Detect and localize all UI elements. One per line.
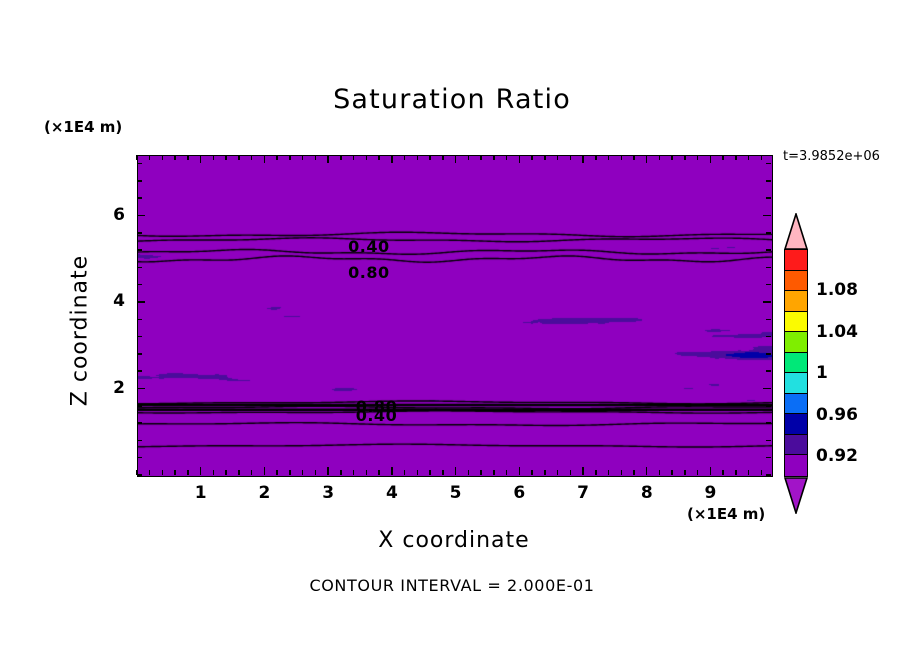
colorbar-tick-label: 1.04 [816, 322, 858, 342]
x-axis-minor-tick [187, 155, 189, 160]
x-axis-minor-tick [289, 470, 291, 475]
x-axis-minor-tick [353, 155, 355, 160]
x-axis-minor-tick [174, 470, 176, 475]
y-axis-minor-tick [766, 284, 771, 286]
y-axis-minor-tick [766, 267, 771, 269]
x-axis-minor-tick [149, 470, 151, 475]
y-axis-minor-tick [137, 163, 142, 165]
x-axis-minor-tick [506, 155, 508, 160]
x-axis-minor-tick [621, 155, 623, 160]
x-axis-minor-tick [684, 470, 686, 475]
x-axis-minor-tick [531, 470, 533, 475]
x-axis-minor-tick [302, 155, 304, 160]
y-axis-major-tick [763, 301, 771, 303]
y-axis-major-tick [137, 301, 145, 303]
x-axis-minor-tick [671, 470, 673, 475]
x-axis-minor-tick [213, 470, 215, 475]
x-axis-major-tick [391, 155, 393, 163]
x-axis-minor-tick [480, 470, 482, 475]
x-axis-minor-tick [735, 155, 737, 160]
y-axis-minor-tick [137, 232, 142, 234]
x-axis-minor-tick [761, 155, 763, 160]
x-axis-major-tick [519, 467, 521, 475]
y-axis-minor-tick [766, 249, 771, 251]
x-axis-major-tick [327, 467, 329, 475]
y-axis-minor-tick [137, 440, 142, 442]
x-axis-minor-tick [659, 470, 661, 475]
x-axis-minor-tick [315, 470, 317, 475]
x-axis-minor-tick [544, 155, 546, 160]
x-axis-major-tick [582, 155, 584, 163]
y-axis-minor-tick [137, 319, 142, 321]
y-axis-minor-tick [137, 370, 142, 372]
x-axis-minor-tick [468, 470, 470, 475]
x-axis-major-tick [646, 155, 648, 163]
x-axis-minor-tick [404, 470, 406, 475]
x-axis-tick-label: 3 [308, 483, 348, 503]
x-axis-minor-tick [761, 470, 763, 475]
x-axis-major-tick [264, 467, 266, 475]
x-axis-tick-label: 5 [436, 483, 476, 503]
y-axis-tick-label: 6 [85, 205, 125, 225]
x-axis-minor-tick [608, 470, 610, 475]
x-axis-minor-tick [595, 155, 597, 160]
x-axis-minor-tick [162, 470, 164, 475]
y-axis-major-tick [137, 388, 145, 390]
x-axis-minor-tick [429, 470, 431, 475]
x-axis-minor-tick [187, 470, 189, 475]
y-axis-minor-tick [137, 474, 142, 476]
x-axis-minor-tick [225, 155, 227, 160]
y-axis-minor-tick [137, 353, 142, 355]
y-axis-minor-tick [766, 457, 771, 459]
x-axis-minor-tick [684, 155, 686, 160]
x-axis-minor-tick [340, 470, 342, 475]
y-axis-minor-tick [766, 370, 771, 372]
x-axis-minor-tick [276, 470, 278, 475]
x-axis-minor-tick [633, 155, 635, 160]
x-axis-minor-tick [468, 155, 470, 160]
x-axis-minor-tick [722, 155, 724, 160]
x-axis-minor-tick [442, 470, 444, 475]
x-axis-minor-tick [251, 155, 253, 160]
colorbar-tick-label: 0.92 [816, 446, 858, 466]
y-axis-major-tick [137, 215, 145, 217]
x-axis-minor-tick [493, 155, 495, 160]
x-axis-major-tick [200, 155, 202, 163]
x-axis-minor-tick [213, 155, 215, 160]
x-axis-minor-tick [621, 470, 623, 475]
x-axis-minor-tick [353, 470, 355, 475]
x-axis-minor-tick [429, 155, 431, 160]
x-axis-minor-tick [162, 155, 164, 160]
y-axis-minor-tick [137, 457, 142, 459]
colorbar-tick-label: 0.96 [816, 405, 858, 425]
x-axis-minor-tick [557, 155, 559, 160]
x-axis-minor-tick [302, 470, 304, 475]
x-axis-major-tick [327, 155, 329, 163]
x-axis-minor-tick [238, 155, 240, 160]
x-axis-minor-tick [748, 155, 750, 160]
x-axis-major-tick [519, 155, 521, 163]
axis-decoration-layer: 123456789246 [0, 0, 904, 654]
x-axis-major-tick [264, 155, 266, 163]
x-axis-major-tick [582, 467, 584, 475]
x-axis-minor-tick [493, 470, 495, 475]
x-axis-major-tick [646, 467, 648, 475]
x-axis-minor-tick [378, 155, 380, 160]
y-axis-minor-tick [137, 422, 142, 424]
y-axis-minor-tick [137, 180, 142, 182]
x-axis-major-tick [391, 467, 393, 475]
x-axis-minor-tick [608, 155, 610, 160]
x-axis-tick-label: 2 [244, 483, 284, 503]
x-axis-minor-tick [417, 155, 419, 160]
x-axis-minor-tick [251, 470, 253, 475]
x-axis-minor-tick [480, 155, 482, 160]
x-axis-minor-tick [378, 470, 380, 475]
x-axis-minor-tick [417, 470, 419, 475]
x-axis-minor-tick [315, 155, 317, 160]
y-axis-major-tick [763, 388, 771, 390]
y-axis-minor-tick [766, 422, 771, 424]
x-axis-tick-label: 7 [563, 483, 603, 503]
y-axis-minor-tick [766, 405, 771, 407]
y-axis-title: Z coordinate [68, 231, 93, 431]
y-axis-major-tick [763, 215, 771, 217]
x-axis-major-tick [710, 155, 712, 163]
y-axis-minor-tick [137, 405, 142, 407]
x-axis-minor-tick [366, 470, 368, 475]
y-axis-minor-tick [766, 197, 771, 199]
x-axis-minor-tick [633, 470, 635, 475]
x-axis-major-tick [455, 155, 457, 163]
x-axis-minor-tick [748, 470, 750, 475]
colorbar-tick-label: 1.08 [816, 280, 858, 300]
x-axis-minor-tick [136, 155, 138, 160]
y-axis-minor-tick [137, 267, 142, 269]
x-axis-minor-tick [735, 470, 737, 475]
x-axis-minor-tick [557, 470, 559, 475]
x-axis-tick-label: 4 [372, 483, 412, 503]
x-axis-minor-tick [442, 155, 444, 160]
x-axis-minor-tick [404, 155, 406, 160]
colorbar-label-layer: 1.081.0410.960.92 [784, 213, 904, 513]
x-axis-minor-tick [276, 155, 278, 160]
y-axis-minor-tick [766, 440, 771, 442]
y-axis-minor-tick [137, 336, 142, 338]
x-axis-major-tick [455, 467, 457, 475]
x-axis-minor-tick [289, 155, 291, 160]
y-axis-minor-tick [766, 163, 771, 165]
x-axis-tick-label: 9 [690, 483, 730, 503]
x-axis-minor-tick [238, 470, 240, 475]
x-axis-minor-tick [722, 470, 724, 475]
y-axis-minor-tick [137, 197, 142, 199]
x-axis-major-tick [200, 467, 202, 475]
y-axis-minor-tick [766, 319, 771, 321]
x-axis-minor-tick [697, 470, 699, 475]
x-axis-minor-tick [570, 470, 572, 475]
y-axis-minor-tick [766, 353, 771, 355]
x-axis-minor-tick [340, 155, 342, 160]
x-axis-minor-tick [174, 155, 176, 160]
x-axis-major-tick [710, 467, 712, 475]
x-axis-minor-tick [366, 155, 368, 160]
y-axis-minor-tick [766, 474, 771, 476]
colorbar-tick-label: 1 [816, 363, 828, 383]
x-axis-tick-label: 6 [499, 483, 539, 503]
y-axis-minor-tick [766, 336, 771, 338]
y-axis-minor-tick [766, 180, 771, 182]
x-axis-minor-tick [149, 155, 151, 160]
y-axis-minor-tick [137, 249, 142, 251]
x-axis-minor-tick [225, 470, 227, 475]
x-axis-tick-label: 1 [181, 483, 221, 503]
x-axis-minor-tick [659, 155, 661, 160]
x-axis-minor-tick [544, 470, 546, 475]
y-axis-minor-tick [766, 232, 771, 234]
x-axis-minor-tick [595, 470, 597, 475]
x-axis-minor-tick [531, 155, 533, 160]
x-axis-minor-tick [506, 470, 508, 475]
x-axis-minor-tick [570, 155, 572, 160]
x-axis-minor-tick [697, 155, 699, 160]
y-axis-minor-tick [137, 284, 142, 286]
x-axis-title: X coordinate [137, 528, 771, 553]
contour-interval-note: CONTOUR INTERVAL = 2.000E-01 [0, 576, 904, 595]
x-axis-minor-tick [671, 155, 673, 160]
x-axis-tick-label: 8 [627, 483, 667, 503]
